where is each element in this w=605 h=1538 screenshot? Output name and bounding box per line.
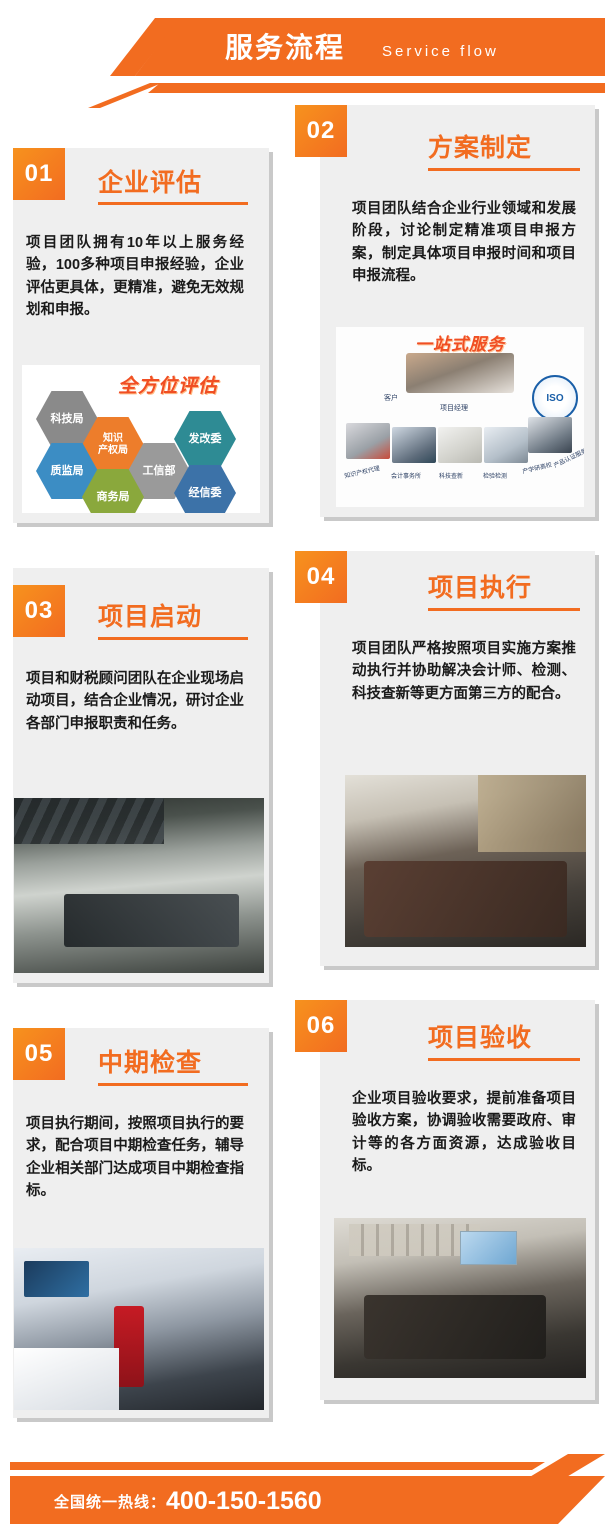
one-stop-thumb-1 [346,423,390,459]
card-02-body: 项目团队结合企业行业领域和发展阶段，讨论制定精准项目申报方案，制定具体项目申报时… [352,198,576,288]
photo-projector-screen [460,1231,517,1265]
card-02-media: 一站式服务 客户 项目经理 ISO 知识产权代理 会计事务所 科技查新 检验检测… [336,327,584,507]
hotline-phone: 400-150-1560 [166,1487,322,1515]
card-03-media [14,798,264,973]
card-04-media [345,775,586,947]
card-03-body: 项目和财税顾问团队在企业现场启动项目，结合企业情况，研讨企业各部门申报职责和任务… [26,668,244,735]
page-subtitle: Service flow [382,38,499,66]
one-stop-label-customer: 客户 [384,393,398,403]
card-01-body: 项目团队拥有10年以上服务经验，100多种项目申报经验，企业评估更具体，更精准，… [26,232,244,322]
photo-long-table [364,1295,545,1359]
card-06-body: 企业项目验收要求，提前准备项目验收方案，协调验收需要政府、审计等的各方面资源，达… [352,1088,576,1178]
iso-seal-icon: ISO [532,375,578,421]
hex-node-fagaiwei: 发改委 [174,411,236,467]
card-05-title: 中期检查 [98,1043,202,1079]
photo-table [64,894,239,947]
photo-conference-desk [364,861,566,937]
card-03-title-rule [98,637,248,640]
card-01-number-badge: 01 [13,148,65,200]
card-02-title: 方案制定 [428,128,532,164]
page-footer: 全国统一热线：400-150-1560 [0,1418,605,1538]
hexagon-diagram: 全方位评估 科技局 知识 产权局 发改委 质监局 工信部 商务局 经信委 [22,365,260,513]
one-stop-thumb-5 [528,417,572,453]
photo-display-screens [24,1261,89,1297]
card-01-title: 企业评估 [98,163,202,199]
one-stop-service-label-1: 知识产权代理 [343,463,380,480]
footer-accent-line [10,1462,545,1470]
hotline-text: 全国统一热线：400-150-1560 [54,1488,322,1516]
one-stop-service-title: 一站式服务 [415,330,505,355]
card-04-title-rule [428,608,580,611]
page-title: 服务流程 [225,28,345,68]
photo-ceiling-pattern [14,798,164,844]
header-accent-line-tail [88,83,162,108]
one-stop-label-manager: 项目经理 [440,403,468,413]
photo-white-counter [14,1348,119,1410]
header-accent-line [148,83,605,93]
one-stop-service-diagram: 一站式服务 客户 项目经理 ISO 知识产权代理 会计事务所 科技查新 检验检测… [336,327,584,507]
hotline-label: 全国统一热线： [54,1494,166,1511]
header-banner [135,18,605,76]
one-stop-thumb-2 [392,427,436,463]
card-06-title: 项目验收 [428,1018,532,1054]
photo-curtain [478,775,586,852]
card-01-title-rule [98,202,248,205]
card-05-title-rule [98,1083,248,1086]
card-03-number-badge: 03 [13,585,65,637]
one-stop-thumb-3 [438,427,482,463]
card-04-number-badge: 04 [295,551,347,603]
card-03-title: 项目启动 [98,597,202,633]
page-header: 服务流程 Service flow [0,0,605,108]
card-02-title-rule [428,168,580,171]
card-05-body: 项目执行期间，按照项目执行的要求，配合项目中期检查任务，辅导企业相关部门达成项目… [26,1113,244,1203]
card-05-media [14,1248,264,1410]
card-04-body: 项目团队严格按照项目实施方案推动执行并协助解决会计师、检测、科技查新等更方面第三… [352,638,576,705]
card-06-media [334,1218,586,1378]
one-stop-hero-photo [406,353,514,393]
one-stop-thumb-4 [484,427,528,463]
hexagon-diagram-title: 全方位评估 [118,371,218,398]
card-05-number-badge: 05 [13,1028,65,1080]
footer-accent-line-tail [528,1454,605,1478]
one-stop-service-label-2: 会计事务所 [391,471,421,480]
card-06-number-badge: 06 [295,1000,347,1052]
one-stop-service-label-3: 科技查新 [439,471,463,480]
card-04-title: 项目执行 [428,568,532,604]
one-stop-service-label-4: 检验检测 [483,471,507,480]
card-02-number-badge: 02 [295,105,347,157]
card-06-title-rule [428,1058,580,1061]
